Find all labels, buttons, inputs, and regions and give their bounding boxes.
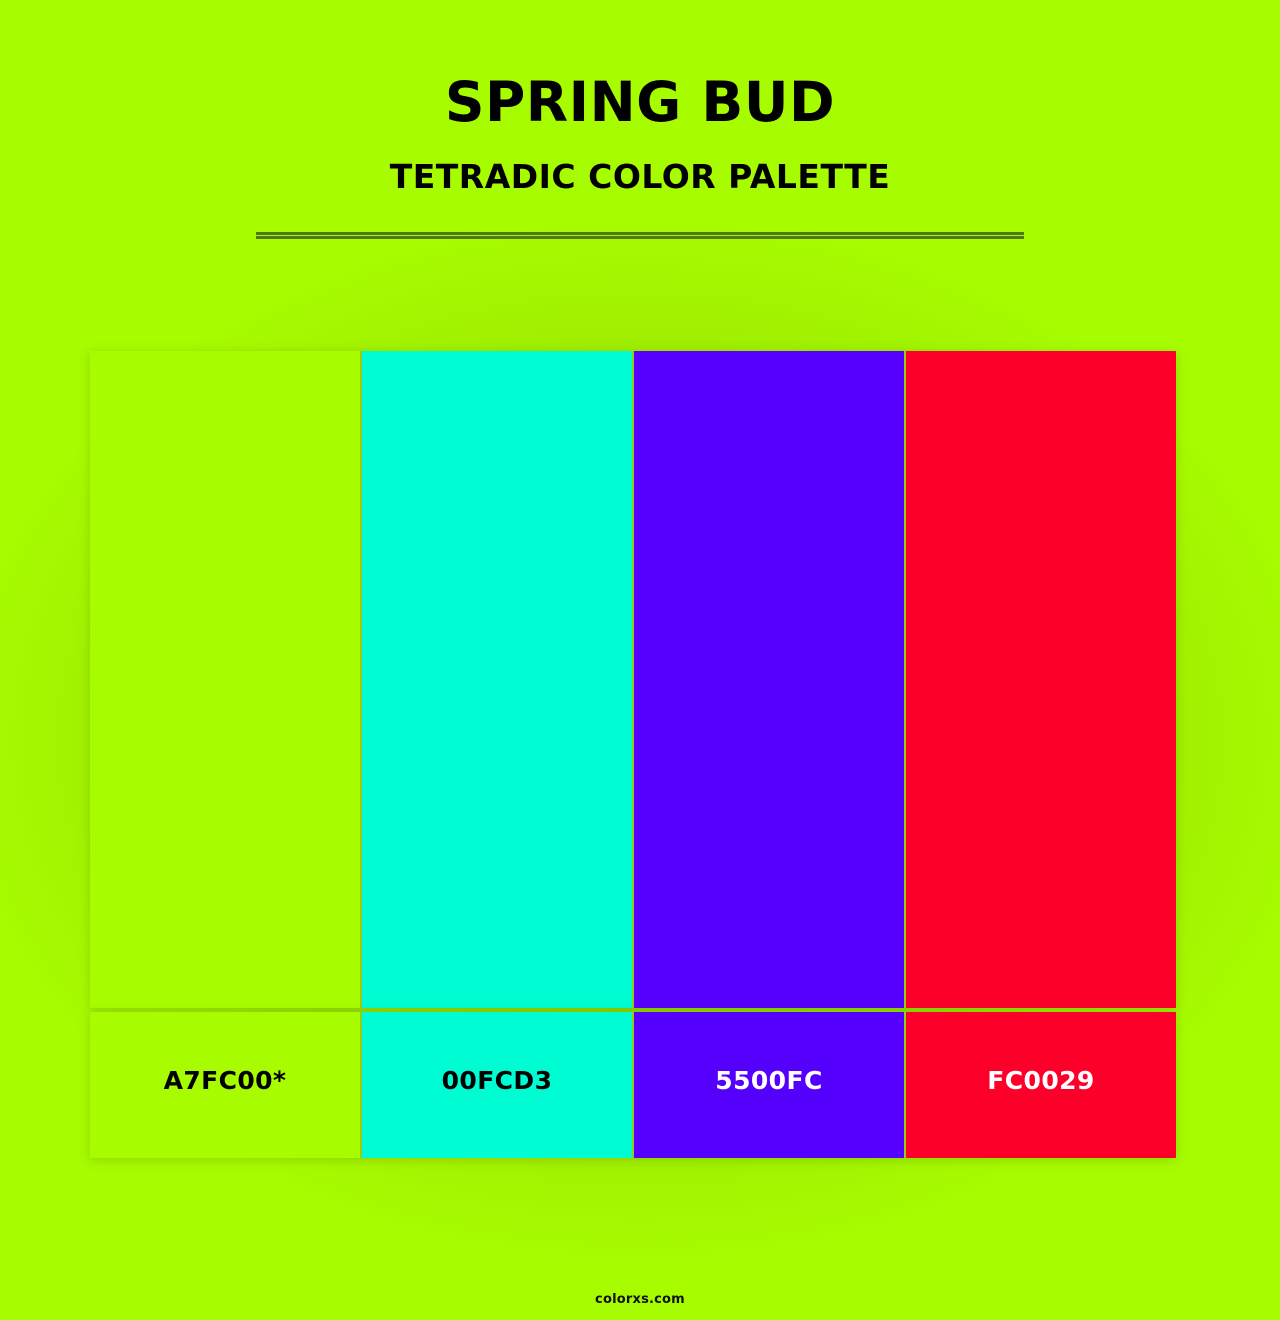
palette-page: SPRING BUD TETRADIC COLOR PALETTE A7FC00… xyxy=(0,0,1280,1320)
title-divider xyxy=(256,232,1024,239)
color-swatch-3[interactable] xyxy=(634,351,906,1008)
color-hex-label-1: A7FC00* xyxy=(164,1066,287,1095)
page-subtitle: TETRADIC COLOR PALETTE xyxy=(0,160,1280,195)
color-swatch-2[interactable] xyxy=(362,351,634,1008)
label-row: A7FC00* 00FCD3 5500FC FC0029 xyxy=(90,1012,1176,1158)
color-hex-label-3: 5500FC xyxy=(715,1066,822,1095)
site-credit: colorxs.com xyxy=(595,1292,685,1307)
color-label-cell-1[interactable]: A7FC00* xyxy=(90,1012,362,1158)
color-label-cell-3[interactable]: 5500FC xyxy=(634,1012,906,1158)
footer: colorxs.com xyxy=(0,1288,1280,1307)
color-hex-label-2: 00FCD3 xyxy=(442,1066,553,1095)
header: SPRING BUD TETRADIC COLOR PALETTE xyxy=(0,0,1280,300)
swatch-row xyxy=(90,351,1176,1008)
color-label-cell-2[interactable]: 00FCD3 xyxy=(362,1012,634,1158)
color-swatch-1[interactable] xyxy=(90,351,362,1008)
page-title: SPRING BUD xyxy=(0,74,1280,132)
color-swatch-4[interactable] xyxy=(906,351,1176,1008)
color-hex-label-4: FC0029 xyxy=(987,1066,1094,1095)
color-palette: A7FC00* 00FCD3 5500FC FC0029 xyxy=(90,351,1176,1158)
color-label-cell-4[interactable]: FC0029 xyxy=(906,1012,1176,1158)
